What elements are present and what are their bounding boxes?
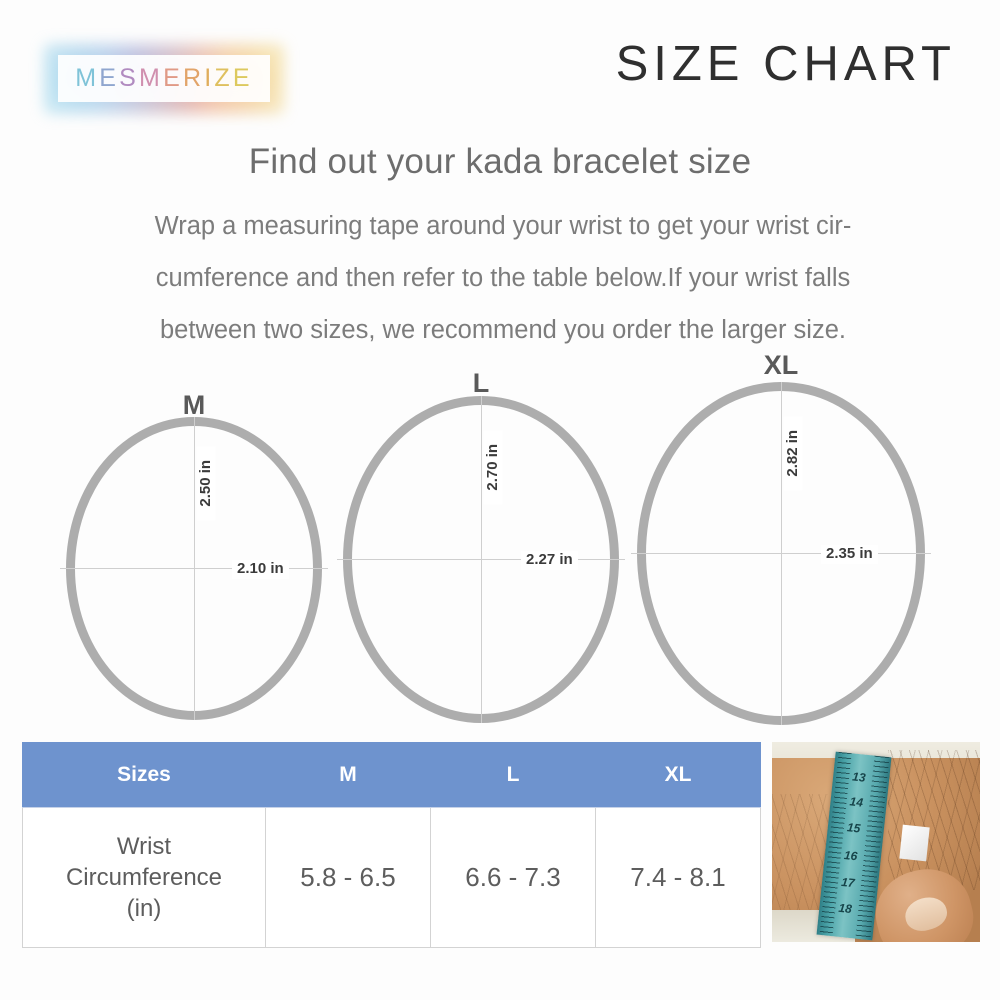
oval-axis-horizontal-l bbox=[337, 559, 625, 560]
tape-clip bbox=[899, 825, 929, 862]
oval-axis-vertical-m bbox=[194, 417, 195, 720]
brand-name: MESMERIZE bbox=[75, 66, 252, 91]
brand-letter: E bbox=[99, 66, 119, 91]
oval-diagrams: M 2.50 in 2.10 in L 2.70 in 2.27 in XL 2… bbox=[0, 0, 1000, 760]
oval-height-label-xl: 2.82 in bbox=[784, 416, 803, 490]
oval-diagram-l: L 2.70 in 2.27 in bbox=[343, 370, 619, 725]
oval-label-l: L bbox=[343, 370, 619, 397]
page-title: SIZE CHART bbox=[616, 40, 956, 89]
brand-letter: S bbox=[119, 66, 139, 91]
size-chart-page: MESMERIZE SIZE CHART Find out your kada … bbox=[0, 0, 1000, 1000]
oval-ring-m bbox=[66, 417, 322, 720]
oval-diagram-xl: XL 2.82 in 2.35 in bbox=[637, 352, 925, 727]
cell-wrist-l: 6.6 - 7.3 bbox=[431, 808, 596, 948]
row-label-line: Circumference bbox=[24, 862, 264, 893]
table-header-row: Sizes M L XL bbox=[23, 743, 761, 808]
oval-height-label-l: 2.70 in bbox=[484, 430, 503, 504]
row-label-wrist-circumference: Wrist Circumference (in) bbox=[23, 808, 266, 948]
row-label-line: Wrist bbox=[24, 831, 264, 862]
brand-letter: Z bbox=[214, 66, 232, 91]
cell-wrist-m: 5.8 - 6.5 bbox=[266, 808, 431, 948]
tape-number: 15 bbox=[846, 821, 861, 834]
brand-letter: M bbox=[75, 66, 99, 91]
oval-axis-vertical-l bbox=[481, 396, 482, 723]
oval-width-label-m: 2.10 in bbox=[232, 560, 289, 579]
brand-letter: E bbox=[233, 66, 253, 91]
tape-number: 17 bbox=[841, 876, 856, 889]
table-header-sizes: Sizes bbox=[23, 743, 266, 808]
intro-line: cumference and then refer to the table b… bbox=[50, 252, 956, 304]
tape-number: 16 bbox=[844, 849, 859, 862]
tape-number: 14 bbox=[849, 796, 864, 809]
row-label-line: (in) bbox=[24, 893, 264, 924]
table-header-l: L bbox=[431, 743, 596, 808]
oval-ring-l bbox=[343, 396, 619, 723]
oval-width-label-xl: 2.35 in bbox=[821, 545, 878, 564]
table-row: Wrist Circumference (in) 5.8 - 6.5 6.6 -… bbox=[23, 808, 761, 948]
oval-axis-horizontal-xl bbox=[631, 553, 931, 554]
oval-label-m: M bbox=[66, 392, 322, 419]
oval-width-label-l: 2.27 in bbox=[521, 551, 578, 570]
oval-diagram-m: M 2.50 in 2.10 in bbox=[66, 392, 322, 722]
oval-axis-vertical-xl bbox=[781, 382, 782, 725]
oval-label-xl: XL bbox=[637, 352, 925, 379]
tape-number: 18 bbox=[838, 902, 853, 915]
cell-wrist-xl: 7.4 - 8.1 bbox=[596, 808, 761, 948]
table-header-m: M bbox=[266, 743, 431, 808]
intro-paragraph: Wrap a measuring tape around your wrist … bbox=[50, 200, 956, 356]
brand-logo: MESMERIZE bbox=[44, 44, 284, 114]
brand-letter: I bbox=[204, 66, 214, 91]
logo-plate: MESMERIZE bbox=[58, 55, 270, 102]
headline: Find out your kada bracelet size bbox=[0, 142, 1000, 182]
oval-axis-horizontal-m bbox=[60, 568, 328, 569]
size-table: Sizes M L XL Wrist Circumference (in) 5.… bbox=[22, 742, 761, 948]
tape-number: 13 bbox=[852, 770, 867, 783]
table-header-xl: XL bbox=[596, 743, 761, 808]
brand-letter: E bbox=[163, 66, 183, 91]
brand-letter: R bbox=[183, 66, 204, 91]
intro-line: Wrap a measuring tape around your wrist … bbox=[50, 200, 956, 252]
wrist-measuring-photo: 13 14 15 16 17 18 bbox=[772, 742, 980, 942]
brand-letter: M bbox=[139, 66, 163, 91]
oval-ring-xl bbox=[637, 382, 925, 725]
intro-line: between two sizes, we recommend you orde… bbox=[50, 304, 956, 356]
oval-height-label-m: 2.50 in bbox=[197, 446, 216, 520]
